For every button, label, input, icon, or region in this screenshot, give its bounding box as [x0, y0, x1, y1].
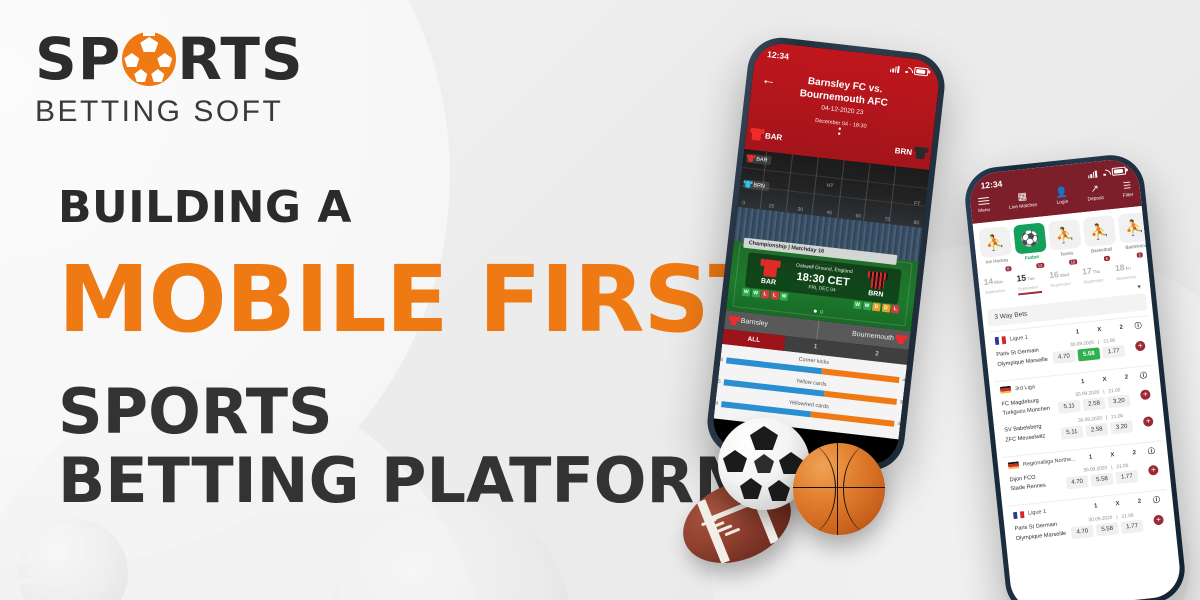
stat-away-value: 3 — [900, 399, 903, 405]
date-chip-selected[interactable]: 12 15Tue September — [1016, 266, 1047, 296]
hero-home-abbr: BAR — [765, 131, 783, 142]
date-month: September — [985, 287, 1013, 295]
odd-button-1[interactable]: 5.11 — [1058, 399, 1081, 413]
hero-home-team: BAR — [751, 128, 783, 143]
odds-column-headers: 1 X 2 — [1079, 449, 1145, 462]
wifi-icon — [902, 66, 912, 74]
phone1-clock: 12:34 — [767, 49, 790, 61]
tick: 60 — [855, 213, 861, 220]
date-day: 16 — [1049, 269, 1059, 280]
form-badge: W — [862, 302, 871, 311]
home-jersey-icon — [748, 155, 754, 163]
odd-button-1[interactable]: 5.11 — [1060, 426, 1083, 440]
match-time: 21.00 — [1121, 513, 1133, 519]
date-month: September — [1116, 273, 1144, 281]
date-weekday: Mon — [994, 279, 1003, 285]
match-odds-block: 30.09.2020 | 21.00 4.70 5.58 1.77 — [1052, 337, 1136, 364]
basketball-icon: ⛹ — [1083, 215, 1117, 247]
sport-basketball[interactable]: ⛹ Basketball — [1083, 215, 1118, 254]
tick: 45 — [826, 210, 832, 217]
plus-icon[interactable]: + — [1134, 340, 1147, 351]
sport-ice-hockey[interactable]: ⛹ Ice Hockey — [978, 226, 1013, 265]
odd-button-x[interactable]: 5.58 — [1077, 348, 1100, 362]
match-teams: SV Babelsberg ZFC Meuselwitz — [1004, 421, 1062, 446]
germany-flag — [1000, 386, 1012, 395]
date-chip[interactable]: 5 18Fri September — [1114, 255, 1145, 285]
brand-logo[interactable]: SP RTS BETTING SOFT — [35, 30, 305, 129]
league-name: 3rd Liga — [1015, 380, 1072, 392]
signal-bars-icon — [1087, 170, 1097, 178]
banner-stage: SP RTS BETTING SOFT BUILDING A MOBILE FI… — [0, 0, 1200, 600]
watermark-soccer-ball-left — [18, 518, 128, 600]
divider: | — [1103, 390, 1105, 395]
date-month: September — [1050, 280, 1078, 288]
stat-home-value: 6 — [720, 357, 723, 363]
odd-button-x[interactable]: 5.58 — [1096, 522, 1119, 536]
match-time: 21.00 — [1103, 339, 1115, 345]
info-icon[interactable]: ⓘ — [1132, 320, 1145, 331]
odd-button-1[interactable]: 4.70 — [1071, 524, 1094, 538]
france-flag — [995, 336, 1007, 345]
timeline-away-tag: BRN — [743, 179, 769, 191]
divider: | — [1116, 515, 1118, 520]
col-1: 1 — [1066, 328, 1089, 336]
stat-home-value: 4 — [715, 400, 718, 406]
info-icon[interactable]: ⓘ — [1145, 445, 1158, 456]
divider: | — [1111, 466, 1113, 471]
date-weekday: Wed — [1060, 272, 1069, 278]
filter-icon: ☰ — [1123, 180, 1132, 192]
odd-button-1[interactable]: 4.70 — [1066, 475, 1089, 489]
form-badge: L — [761, 290, 770, 299]
match-teams: Paris St Germain Olympique Marseille — [1014, 520, 1072, 545]
card-away: BRN — [858, 270, 895, 300]
nav-menu[interactable]: Menu — [977, 195, 991, 214]
timeline-away-label: BRN — [753, 182, 765, 189]
league-name: Ligue 1 — [1028, 505, 1085, 517]
phone2-clock: 12:34 — [980, 179, 1003, 191]
nav-deposit[interactable]: ↗ Deposit — [1086, 183, 1104, 203]
stat-home-value: 5 — [718, 379, 721, 385]
date-day: 14 — [983, 276, 993, 287]
phone2-status-icons — [1087, 166, 1126, 178]
form-badge: W — [742, 288, 751, 297]
odd-button-2[interactable]: 1.77 — [1121, 519, 1144, 533]
match-teams: FC Magdeburg Turkgucu Munchen — [1001, 395, 1059, 420]
col-2: 2 — [1115, 373, 1138, 381]
match-time: 21.00 — [1111, 415, 1123, 421]
headline-line-2: MOBILE FIRST — [58, 256, 718, 344]
tennis-icon: ⛹ — [1048, 219, 1082, 251]
nav-menu-label: Menu — [978, 208, 990, 214]
wifi-icon — [1100, 169, 1110, 177]
timeline-home-tag: BAR — [746, 153, 772, 165]
sport-label: Tennis — [1051, 250, 1082, 258]
card-home: BAR — [751, 258, 788, 288]
info-icon[interactable]: ⓘ — [1150, 495, 1163, 506]
col-2: 2 — [1128, 498, 1151, 506]
date-month: September — [1017, 284, 1045, 292]
col-1: 1 — [1071, 378, 1094, 386]
col-2: 2 — [1110, 324, 1133, 332]
date-weekday: Fri — [1125, 266, 1131, 272]
nav-filter[interactable]: ☰ Filter — [1121, 180, 1133, 199]
plus-icon[interactable]: + — [1139, 389, 1152, 400]
team-selector-away-label: Bournemouth — [852, 330, 895, 342]
sport-futbol[interactable]: ⚽ Futbol — [1013, 222, 1048, 261]
sport-tennis[interactable]: ⛹ Tennis — [1048, 219, 1083, 258]
form-badge: D — [872, 303, 881, 312]
form-badge: W — [779, 292, 788, 301]
tick: 30 — [797, 207, 803, 214]
hamburger-menu-icon — [977, 195, 989, 207]
tick: 15 — [768, 203, 774, 210]
away-jersey-icon — [897, 335, 904, 345]
league-name: Ligue 1 — [1010, 331, 1067, 343]
phone1-status-icons — [890, 64, 929, 77]
logo-subtitle: BETTING SOFT — [35, 95, 305, 129]
divider: | — [1098, 341, 1100, 346]
date-badge: 6 — [1005, 266, 1012, 272]
tick: 75 — [884, 216, 890, 223]
home-jersey-icon — [763, 259, 778, 277]
date-badge: 10 — [1068, 259, 1077, 265]
logo-wordmark: SP RTS — [35, 30, 305, 88]
hero-away-abbr: BRN — [894, 146, 912, 157]
headline-line-3: SPORTS — [58, 378, 718, 446]
odd-button-x[interactable]: 5.58 — [1090, 473, 1113, 487]
away-jersey-icon — [870, 271, 885, 289]
date-day: 18 — [1114, 262, 1124, 273]
odd-button-2[interactable]: 3.20 — [1107, 394, 1130, 408]
date-day: 15 — [1016, 273, 1026, 284]
nav-login[interactable]: 👤 Login — [1055, 187, 1069, 206]
battery-icon — [914, 67, 929, 77]
date-chip[interactable]: 10 16Wed September — [1048, 262, 1079, 292]
col-1: 1 — [1079, 453, 1102, 461]
ice-hockey-icon: ⛹ — [978, 226, 1012, 258]
phone1-screen: 12:34 ← Barnsley FC vs. Bournemouth AFC … — [711, 41, 942, 467]
form-badge: D — [881, 304, 890, 313]
odd-button-x[interactable]: 2.58 — [1083, 397, 1106, 411]
tick: 90 — [913, 220, 919, 227]
user-icon: 👤 — [1055, 187, 1069, 199]
date-badge: 12 — [1036, 263, 1045, 269]
home-jersey-icon — [751, 128, 761, 141]
date-chip[interactable]: 6 14Mon September — [983, 269, 1014, 299]
france-flag — [1013, 511, 1025, 520]
headline-block: BUILDING A MOBILE FIRST SPORTS BETTING P… — [58, 186, 718, 515]
football-player-icon: ⚽ — [1013, 222, 1047, 254]
nav-login-label: Login — [1056, 200, 1068, 206]
germany-flag — [1008, 461, 1020, 470]
odd-button-2[interactable]: 1.77 — [1102, 345, 1125, 359]
phone1-hero: 12:34 ← Barnsley FC vs. Bournemouth AFC … — [744, 41, 941, 170]
odds-column-headers: 1 X 2 — [1066, 324, 1132, 337]
card-middle: Oakwell Ground, England 18:30 CET FRI, D… — [785, 262, 861, 296]
info-icon[interactable]: ⓘ — [1137, 370, 1150, 381]
form-badge: W — [751, 289, 760, 298]
odd-button-2[interactable]: 3.20 — [1110, 421, 1133, 435]
form-badge: L — [770, 291, 779, 300]
away-jersey-icon — [915, 147, 925, 160]
col-2: 2 — [1123, 449, 1146, 457]
date-badge: 5 — [1136, 252, 1143, 258]
card-home-abbr: BAR — [751, 277, 786, 288]
home-jersey-icon — [730, 316, 737, 326]
col-x: X — [1101, 451, 1124, 459]
sport-label: Basketball — [1086, 246, 1117, 254]
date-month: September — [1083, 277, 1111, 285]
hero-away-team: BRN — [894, 144, 926, 159]
headline-line-1: BUILDING A — [58, 186, 718, 230]
soccer-ball-icon — [122, 32, 176, 86]
headline-line-4: BETTING PLATFORM — [58, 447, 718, 515]
basketball-image — [793, 443, 885, 535]
divider: | — [1106, 416, 1108, 421]
stat-away-value: 4 — [897, 421, 900, 427]
odd-button-x[interactable]: 2.58 — [1085, 423, 1108, 437]
deposit-arrow-icon: ↗ — [1090, 183, 1099, 195]
date-weekday: Tue — [1027, 276, 1035, 282]
logo-word-left: SP — [35, 30, 121, 88]
team-selector-home-label: Barnsley — [740, 318, 768, 328]
nav-live-label: Live Matches — [1009, 203, 1038, 211]
away-jersey-icon — [745, 180, 751, 188]
match-odds-block: 30.09.2020 | 21.00 4.70 5.58 1.77 — [1070, 511, 1154, 538]
league-block: Ligue 1 1 X 2 ⓘ Paris St Germain Olympiq… — [1007, 489, 1171, 550]
half-time-marker: HT — [826, 183, 833, 190]
sport-label: Badminton — [1121, 242, 1147, 250]
live-matches-icon: ▦ — [1017, 191, 1028, 203]
card-away-abbr: BRN — [858, 289, 893, 300]
match-odds-block: 30.09.2020 | 21.00 5.11 2.58 3.20 — [1060, 413, 1144, 440]
form-badge: W — [853, 300, 862, 309]
league-block: 3rd Liga 1 X 2 ⓘ FC Magdeburg Turkgucu M… — [994, 364, 1161, 451]
match-teams: Paris St Germain Olympique Marseille — [996, 345, 1054, 370]
col-x: X — [1106, 500, 1129, 508]
form-badge: L — [891, 305, 900, 314]
plus-icon[interactable]: + — [1147, 465, 1160, 476]
nav-live-matches[interactable]: ▦ Live Matches — [1008, 190, 1038, 211]
odd-button-2[interactable]: 1.77 — [1115, 470, 1138, 484]
logo-word-right: RTS — [177, 30, 303, 88]
plus-icon[interactable]: + — [1152, 514, 1165, 525]
match-teams: Dijon FCO Stade Rennes — [1009, 470, 1067, 495]
col-1: 1 — [1085, 503, 1108, 511]
sport-badminton[interactable]: ⛹ Badminton — [1117, 211, 1146, 250]
tick: 0 — [742, 200, 745, 206]
back-arrow-icon[interactable]: ← — [761, 72, 778, 89]
match-time: 21.00 — [1116, 464, 1128, 470]
league-name: Regionalliga Northe... — [1023, 456, 1080, 468]
odd-button-1[interactable]: 4.70 — [1052, 350, 1075, 364]
battery-icon — [1111, 166, 1126, 176]
col-x: X — [1093, 375, 1116, 383]
nav-filter-label: Filter — [1123, 193, 1134, 199]
match-odds-block: 30.09.2020 | 21.00 5.11 2.58 3.20 — [1057, 386, 1141, 413]
date-day: 17 — [1082, 266, 1092, 277]
date-badge: 6 — [1103, 256, 1110, 262]
full-time-marker: FT — [914, 201, 921, 208]
badminton-icon: ⛹ — [1117, 211, 1146, 243]
sport-label: Futbol — [1016, 253, 1047, 261]
sport-label: Ice Hockey — [981, 257, 1012, 265]
match-odds-block: 30.09.2020 | 21.00 4.70 5.58 1.77 — [1065, 462, 1149, 489]
stadium-pitch-panel: Championship | Matchday 16 BAR Oakwell G… — [726, 207, 923, 331]
timeline-home-label: BAR — [756, 156, 768, 163]
col-x: X — [1088, 326, 1111, 334]
stat-away-value: 4 — [902, 377, 905, 383]
nav-deposit-label: Deposit — [1087, 196, 1104, 203]
signal-bars-icon — [890, 65, 900, 73]
date-chip[interactable]: 6 17Thu September — [1081, 259, 1112, 289]
odds-column-headers: 1 X 2 — [1085, 498, 1151, 511]
odds-column-headers: 1 X 2 — [1071, 373, 1137, 386]
date-weekday: Thu — [1092, 269, 1100, 275]
match-time: 21.00 — [1108, 388, 1120, 394]
plus-icon[interactable]: + — [1142, 416, 1155, 427]
